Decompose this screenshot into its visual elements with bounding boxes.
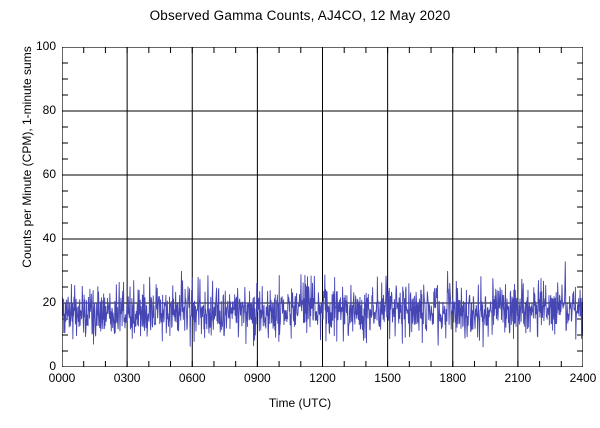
x-tick-label: 0000	[32, 371, 92, 385]
x-tick-label: 0300	[97, 371, 157, 385]
x-axis-tick-labels: 000003000600090012001500180021002400	[62, 371, 583, 389]
chart-figure: Observed Gamma Counts, AJ4CO, 12 May 202…	[0, 0, 600, 428]
gamma-counts-line-chart	[62, 47, 583, 367]
page-title: Observed Gamma Counts, AJ4CO, 12 May 202…	[0, 8, 600, 23]
y-tick-label: 80	[4, 103, 56, 117]
y-tick-label: 100	[4, 39, 56, 53]
y-tick-label: 40	[4, 231, 56, 245]
x-tick-label: 1200	[293, 371, 353, 385]
x-tick-label: 1800	[423, 371, 483, 385]
y-axis-tick-labels: 020406080100	[0, 47, 56, 367]
x-tick-label: 0900	[227, 371, 287, 385]
x-tick-label: 0600	[162, 371, 222, 385]
x-tick-label: 2100	[488, 371, 548, 385]
y-tick-label: 20	[4, 295, 56, 309]
x-tick-label: 1500	[358, 371, 418, 385]
y-tick-label: 60	[4, 167, 56, 181]
plot-area	[62, 47, 583, 367]
x-tick-label: 2400	[553, 371, 600, 385]
x-axis-label: Time (UTC)	[0, 396, 600, 410]
